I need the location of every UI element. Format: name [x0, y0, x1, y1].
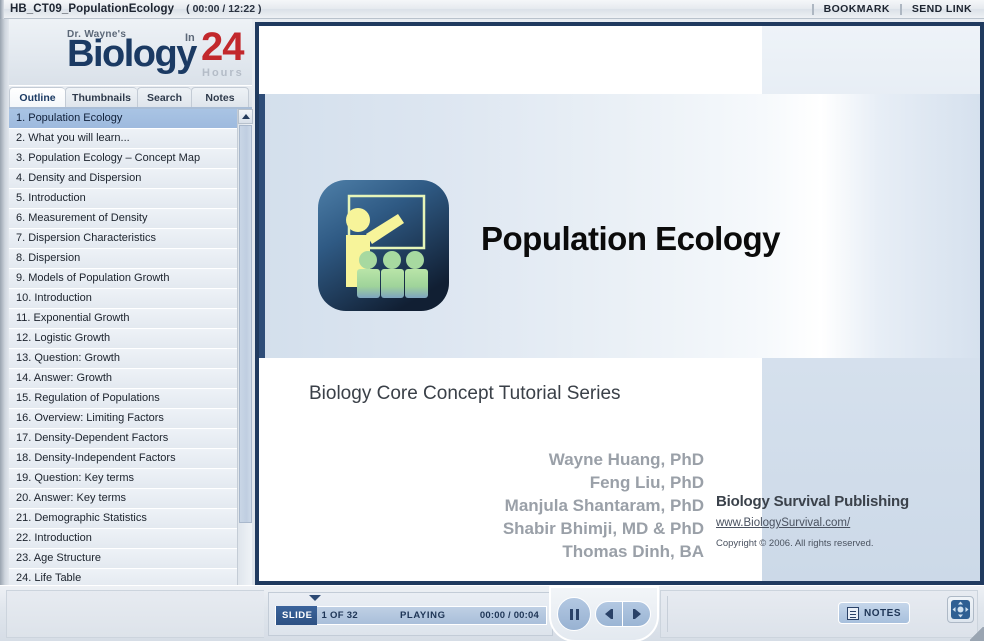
- brand-logo: Dr. Wayne's Biology In 24 Hours: [9, 19, 252, 86]
- outline-item[interactable]: 23. Age Structure: [9, 549, 237, 569]
- presentation-total-time: ( 00:00 / 12:22 ): [186, 3, 261, 15]
- outline-item[interactable]: 19. Question: Key terms: [9, 469, 237, 489]
- fullscreen-expand-icon: [951, 600, 970, 619]
- controls-divider: [667, 596, 668, 632]
- presentation-title: HB_CT09_PopulationEcology: [10, 3, 174, 15]
- logo-main: Biology: [67, 35, 196, 73]
- outline-item[interactable]: 22. Introduction: [9, 529, 237, 549]
- logo-in: In: [185, 32, 195, 44]
- slide-counter: 1 OF 32: [321, 610, 357, 621]
- scrollbar-thumb[interactable]: [239, 125, 252, 523]
- tab-notes[interactable]: Notes: [191, 87, 249, 107]
- bar-icon: [611, 609, 613, 619]
- slide-subtitle: Biology Core Concept Tutorial Series: [309, 383, 621, 405]
- chevron-up-icon: [242, 114, 250, 119]
- slide-time-display: 00:00 / 00:04: [480, 610, 539, 621]
- logo-number: 24: [201, 27, 244, 67]
- outline-item[interactable]: 7. Dispersion Characteristics: [9, 229, 237, 249]
- header-divider: [900, 4, 902, 15]
- logo-hours: Hours: [202, 67, 244, 79]
- slide-authors: Wayne Huang, PhD Feng Liu, PhD Manjula S…: [449, 448, 704, 563]
- fullscreen-button[interactable]: [947, 596, 974, 623]
- outline-item[interactable]: 5. Introduction: [9, 189, 237, 209]
- outline-scrollbar[interactable]: [237, 109, 252, 607]
- notes-document-icon: [847, 607, 859, 620]
- previous-slide-button[interactable]: [596, 602, 623, 626]
- outline-item[interactable]: 8. Dispersion: [9, 249, 237, 269]
- teacher-classroom-icon: [316, 178, 451, 313]
- header-divider: [812, 4, 814, 15]
- slide-canvas[interactable]: Population Ecology Biology Core Concept …: [259, 26, 980, 581]
- left-panel: Dr. Wayne's Biology In 24 Hours Outline …: [0, 19, 252, 585]
- playback-status: PLAYING: [400, 610, 446, 621]
- slide-band-accent: [259, 94, 265, 358]
- publisher-block: Biology Survival Publishing www.BiologyS…: [716, 493, 968, 549]
- slide-progress-bar[interactable]: SLIDE 1 OF 32 PLAYING 00:00 / 00:04: [275, 606, 547, 625]
- outline-item[interactable]: 16. Overview: Limiting Factors: [9, 409, 237, 429]
- outline-item[interactable]: 6. Measurement of Density: [9, 209, 237, 229]
- app-header: HB_CT09_PopulationEcology ( 00:00 / 12:2…: [0, 0, 984, 19]
- tab-search[interactable]: Search: [137, 87, 191, 107]
- pause-icon: [576, 609, 579, 620]
- outline-item[interactable]: 3. Population Ecology – Concept Map: [9, 149, 237, 169]
- slide-label-chip: SLIDE: [276, 606, 317, 625]
- outline-item[interactable]: 12. Logistic Growth: [9, 329, 237, 349]
- publisher-url-link[interactable]: www.BiologySurvival.com/: [716, 517, 850, 529]
- tab-thumbnails[interactable]: Thumbnails: [65, 87, 137, 107]
- pause-icon: [570, 609, 573, 620]
- pause-button[interactable]: [557, 597, 591, 631]
- tab-outline[interactable]: Outline: [9, 87, 65, 107]
- outline-item[interactable]: 9. Models of Population Growth: [9, 269, 237, 289]
- next-slide-button[interactable]: [623, 602, 650, 626]
- resize-corner[interactable]: [970, 627, 984, 641]
- triangle-right-icon: [635, 609, 641, 619]
- outline-item[interactable]: 10. Introduction: [9, 289, 237, 309]
- outline-panel: 1. Population Ecology2. What you will le…: [9, 107, 252, 605]
- panel-left-edge: [0, 19, 9, 585]
- outline-item[interactable]: 18. Density-Independent Factors: [9, 449, 237, 469]
- playback-button-group: [549, 586, 659, 641]
- controls-right-filler: [660, 590, 978, 638]
- notes-button[interactable]: NOTES: [838, 602, 910, 624]
- outline-item[interactable]: 4. Density and Dispersion: [9, 169, 237, 189]
- outline-item[interactable]: 2. What you will learn...: [9, 129, 237, 149]
- send-link-button[interactable]: SEND LINK: [912, 3, 972, 15]
- player-controls-bar: SLIDE 1 OF 32 PLAYING 00:00 / 00:04: [0, 585, 984, 641]
- header-left-edge: [0, 0, 4, 19]
- controls-left-filler: [6, 590, 264, 638]
- header-actions: BOOKMARK SEND LINK: [802, 3, 984, 15]
- position-marker-icon: [309, 595, 321, 601]
- outline-item[interactable]: 1. Population Ecology: [9, 109, 237, 129]
- copyright-notice: Copyright © 2006. All rights reserved.: [716, 538, 968, 549]
- outline-item[interactable]: 20. Answer: Key terms: [9, 489, 237, 509]
- outline-item[interactable]: 21. Demographic Statistics: [9, 509, 237, 529]
- outline-list: 1. Population Ecology2. What you will le…: [9, 109, 237, 607]
- bookmark-button[interactable]: BOOKMARK: [824, 3, 890, 15]
- outline-item[interactable]: 15. Regulation of Populations: [9, 389, 237, 409]
- outline-item[interactable]: 11. Exponential Growth: [9, 309, 237, 329]
- panel-tabs: Outline Thumbnails Search Notes: [9, 86, 252, 107]
- outline-item[interactable]: 13. Question: Growth: [9, 349, 237, 369]
- outline-item[interactable]: 14. Answer: Growth: [9, 369, 237, 389]
- slide-title: Population Ecology: [481, 220, 780, 258]
- step-button-group: [595, 601, 651, 627]
- notes-button-label: NOTES: [864, 608, 901, 619]
- transport-panel: SLIDE 1 OF 32 PLAYING 00:00 / 00:04: [268, 592, 553, 636]
- outline-item[interactable]: 17. Density-Dependent Factors: [9, 429, 237, 449]
- slide-stage: Population Ecology Biology Core Concept …: [255, 22, 984, 585]
- scroll-up-button[interactable]: [238, 109, 253, 124]
- presentation-player: HB_CT09_PopulationEcology ( 00:00 / 12:2…: [0, 0, 984, 641]
- publisher-name: Biology Survival Publishing: [716, 493, 968, 510]
